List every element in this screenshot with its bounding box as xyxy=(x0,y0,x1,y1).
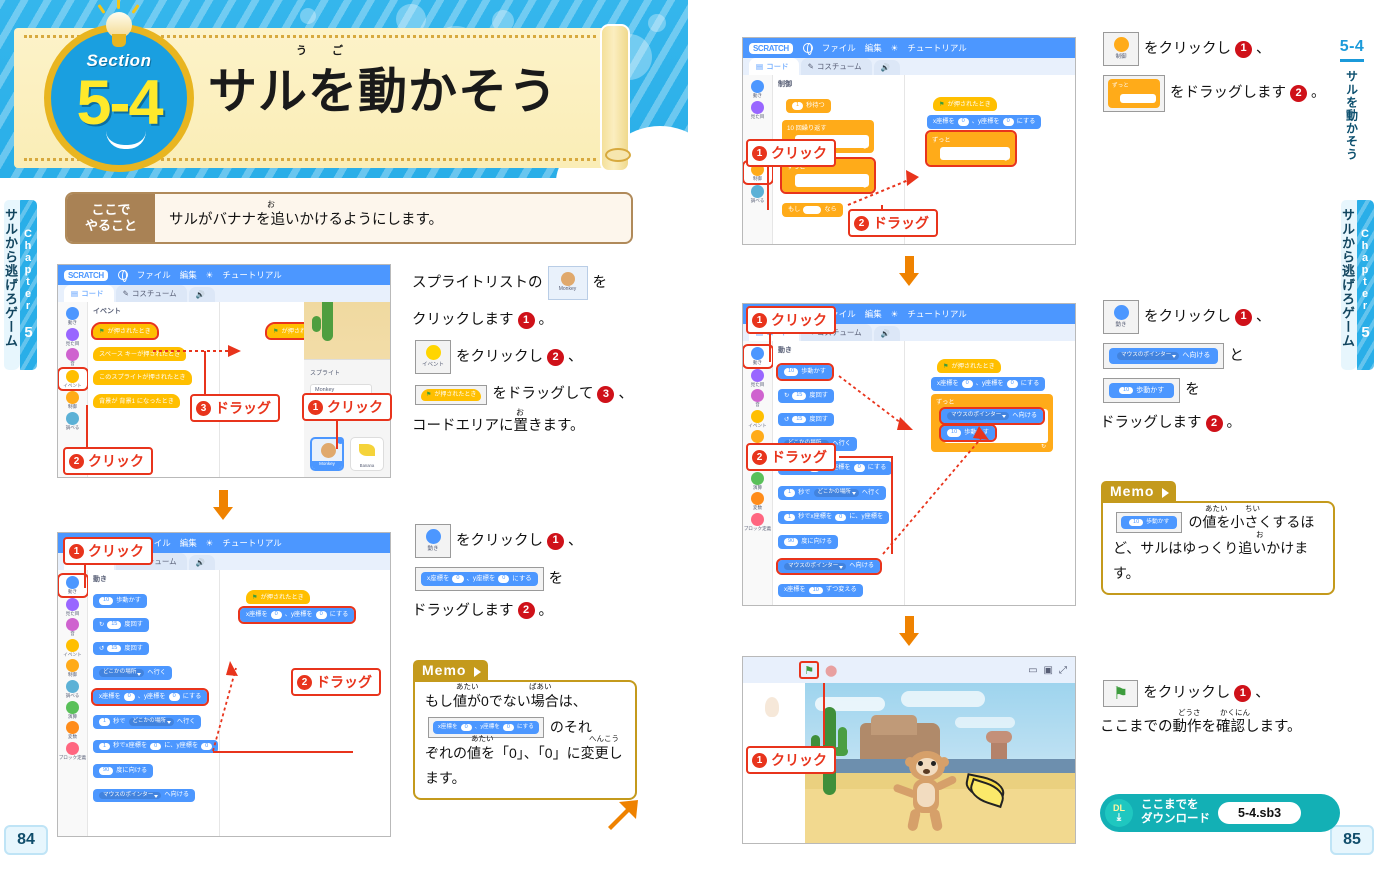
callout-1-click-control: 1 クリック xyxy=(746,139,836,167)
instr-l2b: 。 xyxy=(539,309,554,331)
setxy-block-chip: x座標を 0 、y座標を 0 にする xyxy=(415,567,544,591)
callout-1-click-sprite: 1 クリック xyxy=(302,393,392,421)
block-turn-left-4[interactable]: ↺15度回す xyxy=(778,413,834,427)
category-sensing-2[interactable]: 調べる xyxy=(59,680,87,699)
objective-box: ここで やること お サルがバナナを追いかけるようにします。 xyxy=(65,192,633,244)
instr-r3-l1b: 、 xyxy=(1255,682,1270,704)
canvas-block-setxy-3[interactable]: x座標を0、y座標を0にする xyxy=(927,115,1041,129)
block-point-towards-4[interactable]: マウスのポインターへ向ける xyxy=(778,560,880,574)
category-motion[interactable]: 動き xyxy=(59,307,87,326)
instr-r1-num2: 2 xyxy=(1290,85,1307,102)
instr-r2-l1b: 、 xyxy=(1256,306,1271,328)
category-motion-3[interactable]: 動き xyxy=(744,80,772,99)
chapter-number: 5 xyxy=(20,324,37,341)
instr2-num-1: 1 xyxy=(547,533,564,550)
memo-right: Memo あたい ちい 10 歩動かす の値を小さくするほ お ど、サルはゆっく… xyxy=(1101,481,1335,595)
download-label-line2: ダウンロード xyxy=(1141,813,1210,827)
instr-r3-l2: ここまでの動作を確認します。 xyxy=(1100,716,1302,738)
block-change-x-4[interactable]: x座標を10ずつ変える xyxy=(778,584,863,598)
instr-r3-ruby1: どうさ xyxy=(1178,707,1201,719)
menu-tutorial-3[interactable]: チュートリアル xyxy=(907,42,966,54)
globe-icon[interactable] xyxy=(118,270,128,280)
category-sound-4[interactable]: 音 xyxy=(744,389,772,408)
title-ruby-1: う xyxy=(296,42,307,58)
chapter-tab-right: Chapter 5 サルから逃げろゲーム xyxy=(1341,200,1374,370)
instr-r2-l1a: をクリックし xyxy=(1144,306,1231,328)
motion-category-chip-right: 動き xyxy=(1103,300,1139,334)
memo-left-title: Memo xyxy=(413,660,488,680)
tab-costume-3[interactable]: ✎コスチューム xyxy=(801,58,872,75)
bulb-menu-icon-3: ☀ xyxy=(891,43,899,54)
tab-sound-4[interactable]: 🔊 xyxy=(874,326,900,341)
block-move-steps[interactable]: 10歩動かす xyxy=(93,594,147,608)
instr-r2-num1: 1 xyxy=(1235,309,1252,326)
block-glide-random-4[interactable]: 1秒でどこかの場所へ行く xyxy=(778,486,886,500)
canvas-block-forever-4[interactable]: ずっと ↻ xyxy=(931,394,1053,452)
instr2-l3b: 。 xyxy=(539,600,554,622)
block-palette-4[interactable]: 動き 10歩動かす ↻15度回す ↺15度回す どこかの場所へ行く x座標を0、… xyxy=(773,341,905,605)
canvas-block-flag-2[interactable]: ⚑が押されたとき xyxy=(246,590,310,604)
control-category-chip: 制御 xyxy=(1103,32,1139,66)
instr-l1a: スプライトリストの xyxy=(412,272,543,294)
scratch-logo: SCRATCH xyxy=(64,270,108,281)
events-category-chip: イベント xyxy=(415,340,451,374)
category-looks-2[interactable]: 見た目 xyxy=(59,598,87,617)
objective-text: お サルがバナナを追いかけるようにします。 xyxy=(155,194,631,242)
instr-l4a: をドラッグして xyxy=(492,383,593,405)
tab-costume[interactable]: ✎コスチューム xyxy=(116,285,187,302)
instr-r3-l1a: をクリックし xyxy=(1143,682,1230,704)
instr2-num-2: 2 xyxy=(518,602,535,619)
flow-arrow-3 xyxy=(899,616,919,646)
stage-sprite-area-1: スプライト Monkey Monkey Banana xyxy=(304,302,390,477)
category-variables-2[interactable]: 変数 xyxy=(59,721,87,740)
menu-edit[interactable]: 編集 xyxy=(180,269,197,281)
tab-costume-label: コスチューム xyxy=(132,288,177,299)
block-goto-random[interactable]: どこかの場所へ行く xyxy=(93,666,172,680)
memo-left-body: あたい ばあい もし値が0でない場合は、 x座標を0、y座標を0にする のそれ … xyxy=(413,680,637,800)
ruby-oku: お xyxy=(516,407,524,419)
instr-r1-l2b: 。 xyxy=(1311,82,1326,104)
category-myblocks-2[interactable]: ブロック定義 xyxy=(59,742,87,761)
memo-right-title: Memo xyxy=(1101,481,1176,501)
stage-controls-bar: ⚑ ⬤ ▭ ▣ ⤢ xyxy=(743,657,1075,683)
scratch-tabbar-3: ▤コード ✎コスチューム 🔊 xyxy=(743,58,1075,75)
smile-decoration xyxy=(106,131,146,149)
callout-3-drag: 3 ドラッグ xyxy=(190,394,280,422)
block-palette-2[interactable]: 動き 10歩動かす ↻15度回す ↺15度回す どこかの場所へ行く x座標を0、… xyxy=(88,570,220,836)
instr-num-3: 3 xyxy=(597,386,614,403)
memo-left-t3: ぞれの値を「0」、「0」に変更し xyxy=(425,745,623,761)
category-sound[interactable]: 音 xyxy=(59,348,87,367)
category-control-2[interactable]: 制御 xyxy=(59,659,87,678)
instr2-l3: ドラッグします xyxy=(412,600,514,622)
objective-text-value: サルがバナナを追いかけるようにします。 xyxy=(169,212,443,228)
flow-arrow-2 xyxy=(899,256,919,286)
instr-num-1: 1 xyxy=(518,312,535,329)
block-glide-xy[interactable]: 1秒でx座標を0に、y座標を0 xyxy=(93,740,218,754)
callout-2-drag-forever: 2 ドラッグ xyxy=(848,209,938,237)
download-label: ここまでを ダウンロード xyxy=(1141,799,1210,827)
page-title: サルを動かそう xyxy=(208,52,558,123)
instr2-l2b: を xyxy=(549,568,564,590)
category-sensing[interactable]: 調べる xyxy=(59,412,87,431)
block-glide-xy-4[interactable]: 1秒でx座標を0に、y座標を xyxy=(778,511,889,525)
section-marker-title: サルを動かそう xyxy=(1344,70,1361,161)
palette-block-flag[interactable]: ⚑が押されたとき xyxy=(93,324,157,338)
category-variables-4[interactable]: 変数 xyxy=(744,492,772,511)
section-number: 5-4 xyxy=(51,67,187,139)
callout-2-drag-blocks-4: 2 ドラッグ xyxy=(746,443,836,471)
category-events-2[interactable]: イベント xyxy=(59,639,87,658)
download-bar[interactable]: DL ⤓ ここまでを ダウンロード 5-4.sb3 xyxy=(1100,794,1340,832)
left-page: Section 5-4 う ご サルを動かそう ここで やること お サルがバナ… xyxy=(0,0,688,877)
memo-left: Memo あたい ばあい もし値が0でない場合は、 x座標を0、y座標を0にする… xyxy=(413,660,637,800)
scratch-logo-3: SCRATCH xyxy=(749,43,793,54)
block-turn-right[interactable]: ↻15度回す xyxy=(93,618,149,632)
sprite-chip-icon: Monkey xyxy=(548,266,588,300)
chapter-tab-top-right: Chapter 5 xyxy=(1357,200,1374,370)
memo-right-body: あたい ちい 10 歩動かす の値を小さくするほ お ど、サルはゆっくり追いかけ… xyxy=(1101,501,1335,595)
instr2-l1b: 、 xyxy=(568,530,583,552)
category-operators-2[interactable]: 演算 xyxy=(59,701,87,720)
page-number-right: 85 xyxy=(1330,825,1374,855)
block-if[interactable]: もし なら xyxy=(782,203,843,217)
category-list-4: 動き 見た目 音 イベント 制御 調べる 演算 変数 ブロック定義 xyxy=(743,341,773,605)
menu-tutorial[interactable]: チュートリアル xyxy=(222,269,281,281)
category-looks-4[interactable]: 見た目 xyxy=(744,369,772,388)
download-filename[interactable]: 5-4.sb3 xyxy=(1218,802,1301,824)
canvas-block-forever-3[interactable]: ずっと↻ xyxy=(927,132,1015,165)
block-point-direction[interactable]: 90度に向ける xyxy=(93,764,153,778)
canvas-block-move-4[interactable]: 10歩動かす xyxy=(941,426,995,440)
instr-l3a: をクリックし xyxy=(456,346,543,368)
memo-right-t3: す。 xyxy=(1113,562,1323,585)
palette-block-backdrop[interactable]: 背景が 背景1 になったとき xyxy=(93,394,180,408)
memo-ruby-2: ばあい xyxy=(529,681,552,693)
memo-right-t2: ど、サルはゆっくり追いかけま xyxy=(1113,540,1308,556)
instr-num-2: 2 xyxy=(547,349,564,366)
scratch-menubar-3: SCRATCH ファイル 編集 ☀ チュートリアル xyxy=(743,38,1075,58)
instr-r3-ruby2: かくにん xyxy=(1220,707,1250,719)
tab-code-3[interactable]: ▤コード xyxy=(749,58,799,75)
continue-arrow-icon xyxy=(604,795,644,835)
category-looks[interactable]: 見た目 xyxy=(59,328,87,347)
memo-left-t2: のそれ xyxy=(550,716,592,739)
objective-label-line2: やること xyxy=(85,218,137,234)
category-control[interactable]: 制御 xyxy=(59,391,87,410)
stage-canvas[interactable] xyxy=(805,683,1075,843)
block-turn-right-4[interactable]: ↻15度回す xyxy=(778,389,834,403)
green-flag-chip: ⚑ xyxy=(1103,680,1138,707)
category-looks-3[interactable]: 見た目 xyxy=(744,101,772,120)
palette-header-1: イベント xyxy=(93,306,219,316)
code-canvas-1[interactable]: ⚑が押されたとき xyxy=(220,302,304,477)
canvas-block-setxy-2[interactable]: x座標を0、y座標を0にする xyxy=(240,608,354,622)
motion-category-chip: 動き xyxy=(415,524,451,558)
instruction-block-left-1: スプライトリストの Monkey を クリックします 1 。 イベント をクリッ… xyxy=(412,266,662,446)
screenshot-panel-1: SCRATCH ファイル 編集 ☀ チュートリアル ▤コード ✎コスチューム 🔊… xyxy=(57,264,391,478)
objective-label-line1: ここで xyxy=(91,202,130,218)
palette-header-2: 動き xyxy=(93,574,219,584)
memo-r-ruby1: あたい xyxy=(1205,503,1228,515)
sprite-panel-label: スプライト xyxy=(310,368,340,377)
memo-ruby-4: へんこう xyxy=(589,733,619,745)
lightbulb-icon xyxy=(100,2,138,48)
block-turn-left[interactable]: ↺15度回す xyxy=(93,642,149,656)
memo-left-t4: ます。 xyxy=(425,767,625,790)
title-ruby-2: ご xyxy=(332,42,343,58)
menu-file[interactable]: ファイル xyxy=(137,269,171,281)
palette-block-sprite-clicked[interactable]: このスプライトが押されたとき xyxy=(93,370,192,384)
instr-r2-l3b: を xyxy=(1185,379,1200,401)
scratch-menu: ファイル 編集 ☀ チュートリアル xyxy=(118,269,282,281)
instruction-block-left-2: 動き をクリックし 1 、 x座標を 0 、y座標を 0 にする を ドラッグし… xyxy=(412,524,664,631)
callout-1-click-flag: 1 クリック xyxy=(746,746,836,774)
menu-edit-2[interactable]: 編集 xyxy=(180,537,197,549)
block-point-direction-4[interactable]: 90度に向ける xyxy=(778,535,838,549)
instr-r1-l1b: 、 xyxy=(1256,38,1271,60)
menu-edit-3[interactable]: 編集 xyxy=(865,42,882,54)
tab-sound[interactable]: 🔊 xyxy=(189,287,215,302)
instr-l5: コードエリアに置きます。 xyxy=(412,415,585,437)
memo-move-chip: 10 歩動かす xyxy=(1116,512,1182,534)
callout-2-click-events: 2 クリック xyxy=(63,447,153,475)
block-glide-random[interactable]: 1秒でどこかの場所へ行く xyxy=(93,715,201,729)
category-motion-2[interactable]: 動き xyxy=(59,575,87,596)
fullscreen-icon[interactable]: ⤢ xyxy=(1059,665,1067,676)
instr-r1-l1a: をクリックし xyxy=(1144,38,1231,60)
small-stage-icon[interactable]: ▭ xyxy=(1028,665,1037,676)
code-canvas-2[interactable]: ⚑が押されたとき x座標を0、y座標を0にする xyxy=(220,570,390,836)
memo-ruby-1: あたい xyxy=(456,681,479,693)
category-operators-4[interactable]: 演算 xyxy=(744,472,772,491)
instr-r2-l2b: と xyxy=(1229,345,1244,367)
instruction-block-right-2: 動き をクリックし 1 、 マウスのポインター へ向ける と 10 歩動かす xyxy=(1100,300,1344,444)
code-canvas-4[interactable]: ⚑が押されたとき x座標を0、y座標を0にする ずっと ↻ マウスのポインターへ… xyxy=(905,341,1075,605)
block-point-towards[interactable]: マウスのポインターへ向ける xyxy=(93,789,195,803)
instr-r2-num2: 2 xyxy=(1206,415,1223,432)
download-label-line1: ここまでを xyxy=(1141,799,1210,813)
bulb-menu-icon-4: ☀ xyxy=(891,309,899,320)
instr-l4b: 、 xyxy=(618,383,633,405)
category-list-2: 動き 見た目 音 イベント 制御 調べる 演算 変数 ブロック定義 xyxy=(58,570,88,836)
category-sound-2[interactable]: 音 xyxy=(59,618,87,637)
tab-code-label: コード xyxy=(81,288,104,299)
menu-tutorial-4[interactable]: チュートリアル xyxy=(907,308,966,320)
memo-r-ruby2: ちい xyxy=(1245,503,1260,515)
callout-1-click-motion-4: 1 クリック xyxy=(746,306,836,334)
scratch-tabbar: ▤コード ✎コスチューム 🔊 xyxy=(58,285,390,302)
bulb-menu-icon: ☀ xyxy=(206,270,214,281)
category-events[interactable]: イベント xyxy=(59,369,87,390)
section-marker-number: 5-4 xyxy=(1340,38,1365,62)
chapter-label-right: Chapter xyxy=(1359,228,1371,312)
instruction-block-right-3: ⚑ をクリックし 1 、 どうさ かくにん ここまでの動作を確認します。 xyxy=(1100,680,1344,747)
objective-label: ここで やること xyxy=(67,194,155,242)
chapter-number-right: 5 xyxy=(1357,324,1374,341)
sprite-thumb-banana[interactable]: Banana xyxy=(350,437,384,471)
instr-r3-num1: 1 xyxy=(1234,685,1251,702)
chapter-title: サルから逃げろゲーム xyxy=(4,200,20,370)
move-steps-block-chip: 10 歩動かす xyxy=(1103,378,1180,404)
scratch-menu-3: ファイル 編集 ☀ チュートリアル xyxy=(803,42,967,54)
category-events-4[interactable]: イベント xyxy=(744,410,772,429)
chapter-label: Chapter xyxy=(22,228,34,312)
tab-sound-3[interactable]: 🔊 xyxy=(874,60,900,75)
canvas-block-flag-3[interactable]: ⚑が押されたとき xyxy=(933,97,997,111)
palette-header-4: 動き xyxy=(778,345,904,355)
globe-icon-3[interactable] xyxy=(803,43,813,53)
category-myblocks-4[interactable]: ブロック定義 xyxy=(744,513,772,532)
green-flag-button[interactable]: ⚑ xyxy=(799,661,819,679)
memo-left-t1: もし値が0でない場合は、 xyxy=(425,693,587,709)
scratch-menubar: SCRATCH ファイル 編集 ☀ チュートリアル xyxy=(58,265,390,285)
instr-r1-l2a: をドラッグします xyxy=(1170,82,1286,104)
bulb-menu-icon-2: ☀ xyxy=(206,538,214,549)
forever-block-chip: ずっと ↻ xyxy=(1103,75,1165,112)
instr2-l1a: をクリックし xyxy=(456,530,543,552)
instr-r2-l4: ドラッグします xyxy=(1100,412,1202,434)
download-icon: DL ⤓ xyxy=(1105,799,1133,827)
instr-r2-l4b: 。 xyxy=(1227,412,1242,434)
instr-l2a: クリックします xyxy=(412,309,514,331)
canvas-block-flag[interactable]: ⚑が押されたとき xyxy=(267,324,304,338)
palette-block-key[interactable]: スペース キーが押されたとき xyxy=(93,347,186,361)
memo-r-ruby3: お xyxy=(1256,529,1264,541)
tab-code[interactable]: ▤コード xyxy=(64,285,114,302)
flow-arrow-1 xyxy=(213,490,233,520)
block-wait[interactable]: 1秒待つ xyxy=(786,99,831,113)
instr-r1-num1: 1 xyxy=(1235,41,1252,58)
stop-button[interactable]: ⬤ xyxy=(825,664,837,677)
tab-sound-2[interactable]: 🔊 xyxy=(189,555,215,570)
large-stage-icon[interactable]: ▣ xyxy=(1044,665,1053,676)
canvas-block-point-towards-4[interactable]: マウスのポインターへ向ける xyxy=(941,409,1043,423)
instruction-block-right-1: 制御 をクリックし 1 、 ずっと ↻ をドラッグします 2 。 xyxy=(1100,32,1340,121)
memo-ruby-3: あたい xyxy=(471,733,494,745)
category-motion-4[interactable]: 動き xyxy=(744,346,772,367)
palette-header-3: 制御 xyxy=(778,79,904,89)
chapter-tab-top: Chapter 5 xyxy=(20,200,37,370)
instr-l3b: 、 xyxy=(568,346,583,368)
callout-2-drag-setxy: 2 ドラッグ xyxy=(291,668,381,696)
banana-sprite xyxy=(965,775,1009,805)
block-set-xy[interactable]: x座標を0、y座標を0にする xyxy=(93,690,207,704)
canvas-block-setxy-4[interactable]: x座標を0、y座標を0にする xyxy=(931,377,1045,391)
point-towards-block-chip: マウスのポインター へ向ける xyxy=(1103,343,1224,369)
page-number-left: 84 xyxy=(4,825,48,855)
canvas-block-flag-4[interactable]: ⚑が押されたとき xyxy=(937,359,1001,373)
chapter-tab-left: Chapter 5 サルから逃げろゲーム xyxy=(4,200,37,370)
callout-1-click-motion: 1 クリック xyxy=(63,537,153,565)
instr-l1b: を xyxy=(593,272,608,294)
sprite-thumb-monkey[interactable]: Monkey xyxy=(310,437,344,471)
block-move-steps-4[interactable]: 10歩動かす xyxy=(778,365,832,379)
right-page: 5-4 サルを動かそう Chapter 5 サルから逃げろゲーム 85 SCRA… xyxy=(688,0,1376,877)
flag-block-chip: ⚑が押されたとき xyxy=(415,385,487,405)
menu-edit-4[interactable]: 編集 xyxy=(865,308,882,320)
menu-tutorial-2[interactable]: チュートリアル xyxy=(222,537,281,549)
menu-file-3[interactable]: ファイル xyxy=(822,42,856,54)
